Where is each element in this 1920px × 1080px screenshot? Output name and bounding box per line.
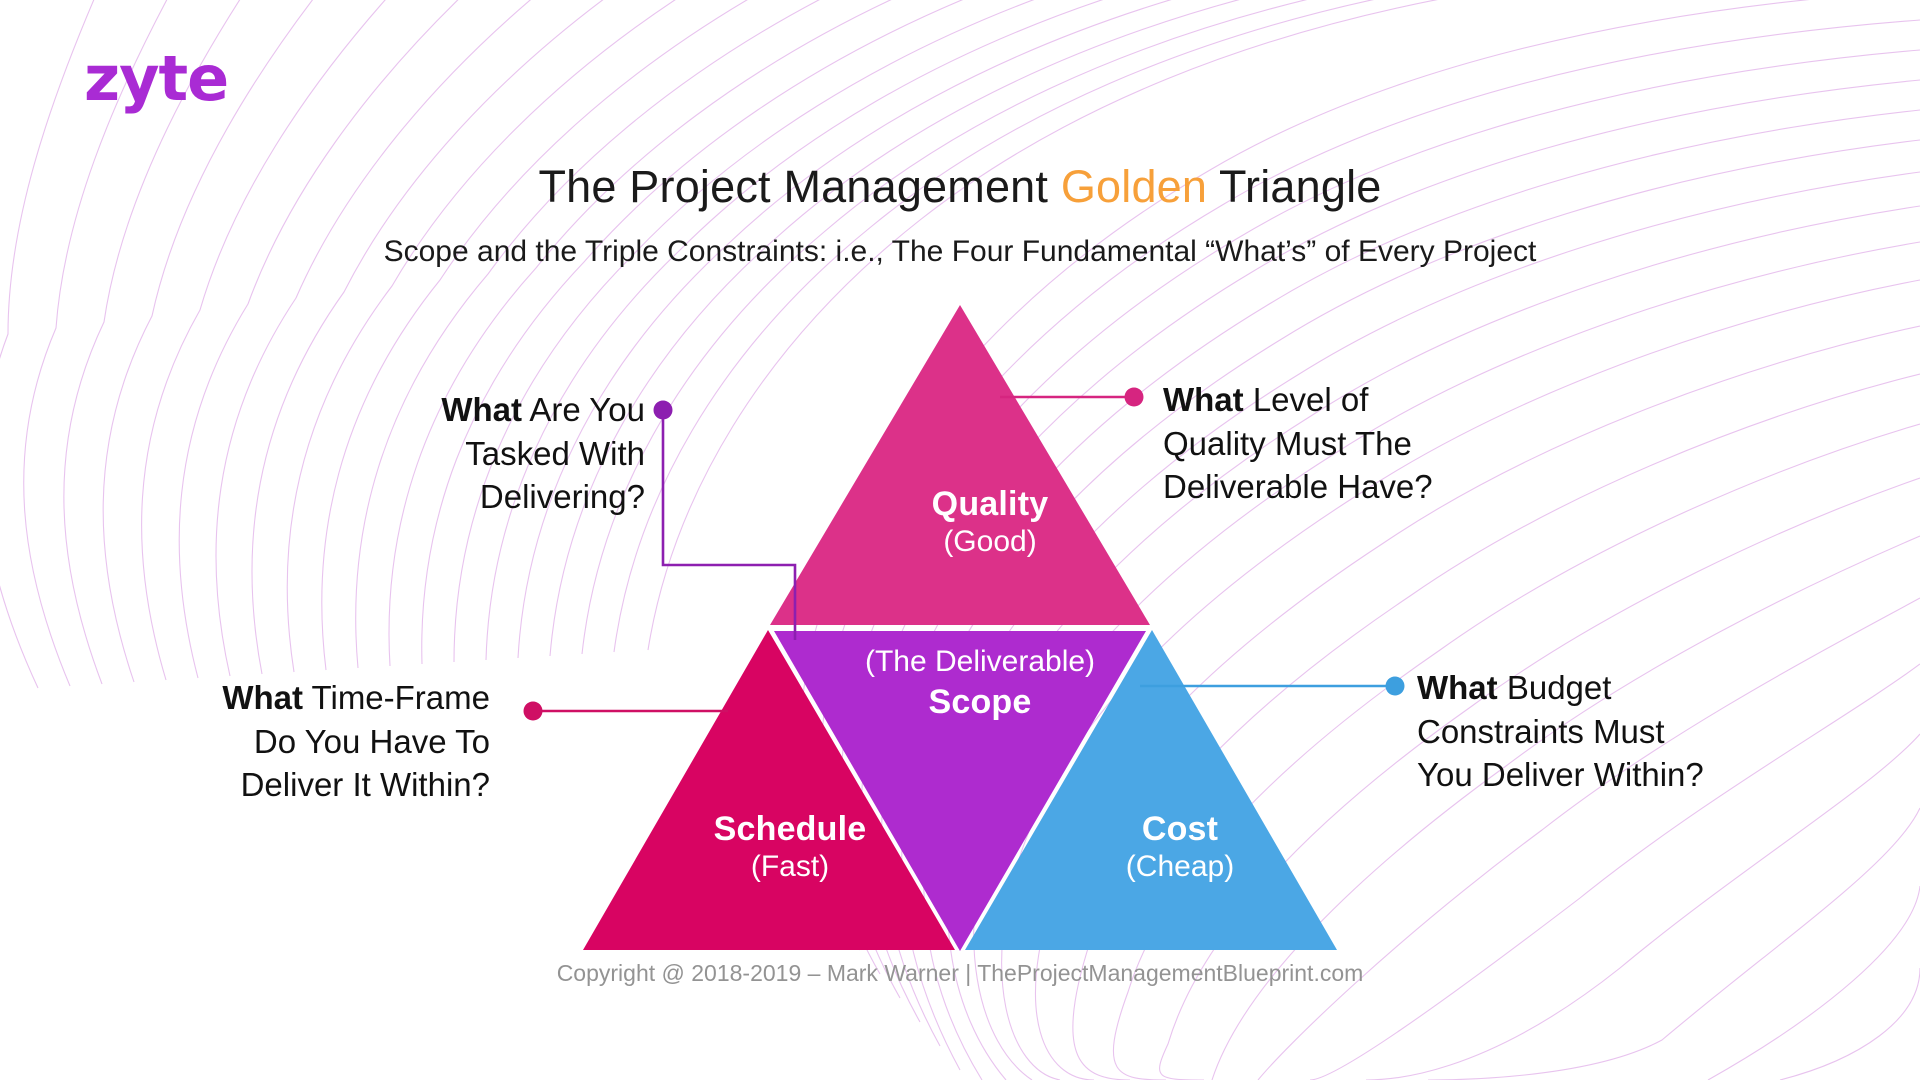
callout-schedule-line1-rest: Time-Frame bbox=[303, 679, 490, 716]
connector-dot-cost bbox=[1386, 677, 1405, 696]
connector-dot-schedule bbox=[524, 702, 543, 721]
callout-cost-bold: What bbox=[1417, 669, 1498, 706]
page-title-accent: Golden bbox=[1061, 161, 1207, 212]
page-title: The Project Management Golden Triangle bbox=[0, 162, 1920, 212]
callout-cost-line2: Constraints Must bbox=[1417, 710, 1777, 754]
page-subtitle: Scope and the Triple Constraints: i.e., … bbox=[0, 234, 1920, 270]
callout-scope-line1: What Are You bbox=[330, 388, 645, 432]
callout-cost-line3: You Deliver Within? bbox=[1417, 753, 1777, 797]
callout-schedule-line3: Deliver It Within? bbox=[120, 763, 490, 807]
callout-cost: What Budget Constraints Must You Deliver… bbox=[1417, 666, 1777, 797]
triangle-segment-quality[interactable] bbox=[770, 305, 1150, 625]
callout-quality-bold: What bbox=[1163, 381, 1244, 418]
zyte-logo: zyte bbox=[84, 48, 228, 110]
callout-quality-line2: Quality Must The bbox=[1163, 422, 1493, 466]
callout-quality-line3: Deliverable Have? bbox=[1163, 465, 1493, 509]
callout-quality-line1-rest: Level of bbox=[1244, 381, 1369, 418]
title-block: The Project Management Golden Triangle S… bbox=[0, 162, 1920, 270]
callout-cost-line1: What Budget bbox=[1417, 666, 1777, 710]
callout-schedule-line2: Do You Have To bbox=[120, 720, 490, 764]
callout-quality: What Level of Quality Must The Deliverab… bbox=[1163, 378, 1493, 509]
footer-credit: Copyright @ 2018-2019 – Mark Warner | Th… bbox=[0, 960, 1920, 987]
callout-scope: What Are You Tasked With Delivering? bbox=[330, 388, 645, 519]
page-title-suffix: Triangle bbox=[1207, 161, 1381, 212]
callout-scope-line2: Tasked With bbox=[330, 432, 645, 476]
callout-scope-line3: Delivering? bbox=[330, 475, 645, 519]
callout-scope-bold: What bbox=[441, 391, 522, 428]
page-title-prefix: The Project Management bbox=[538, 161, 1060, 212]
callout-quality-line1: What Level of bbox=[1163, 378, 1493, 422]
callout-schedule-bold: What bbox=[222, 679, 303, 716]
callout-scope-line1-rest: Are You bbox=[522, 391, 645, 428]
callout-schedule: What Time-Frame Do You Have To Deliver I… bbox=[120, 676, 490, 807]
callout-cost-line1-rest: Budget bbox=[1498, 669, 1612, 706]
callout-schedule-line1: What Time-Frame bbox=[120, 676, 490, 720]
